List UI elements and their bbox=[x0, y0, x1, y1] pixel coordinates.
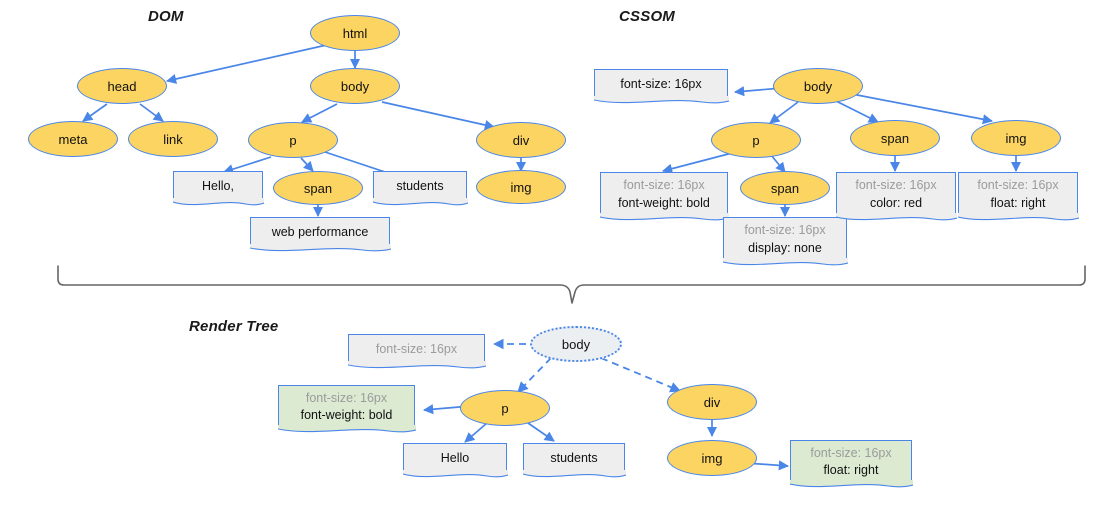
cssom-node-span-nested-label: span bbox=[771, 181, 799, 196]
dom-node-img-label: img bbox=[511, 180, 532, 195]
render-rule-img[interactable]: font-size: 16px float: right bbox=[790, 440, 912, 483]
cssom-rule-span-line1: font-size: 16px bbox=[855, 177, 936, 194]
dom-section-title: DOM bbox=[148, 8, 184, 25]
dom-node-meta-label: meta bbox=[59, 132, 88, 147]
cssom-rule-span-nested[interactable]: font-size: 16px display: none bbox=[723, 217, 847, 261]
cssom-rule-span-nested-line1: font-size: 16px bbox=[744, 222, 825, 239]
cssom-rule-p[interactable]: font-size: 16px font-weight: bold bbox=[600, 172, 728, 216]
dom-text-hello[interactable]: Hello, bbox=[173, 171, 263, 201]
cssom-node-span-nested[interactable]: span bbox=[740, 171, 830, 205]
dom-text-web-performance-label: web performance bbox=[272, 224, 369, 241]
cssom-node-body-label: body bbox=[804, 79, 832, 94]
cssom-node-p-label: p bbox=[752, 133, 759, 148]
render-text-students[interactable]: students bbox=[523, 443, 625, 473]
cssom-rule-img-line2: float: right bbox=[991, 195, 1046, 212]
dom-node-div[interactable]: div bbox=[476, 122, 566, 158]
dom-node-body[interactable]: body bbox=[310, 68, 400, 104]
cssom-node-img-label: img bbox=[1006, 131, 1027, 146]
edge-layer bbox=[0, 0, 1109, 506]
render-node-body-label: body bbox=[562, 337, 590, 352]
cssom-node-img[interactable]: img bbox=[971, 120, 1061, 156]
cssom-rule-body-line1: font-size: 16px bbox=[620, 76, 701, 93]
dom-node-head[interactable]: head bbox=[77, 68, 167, 104]
cssom-rule-p-line2: font-weight: bold bbox=[618, 195, 710, 212]
render-tree-section-title: Render Tree bbox=[189, 318, 278, 335]
cssom-rule-span[interactable]: font-size: 16px color: red bbox=[836, 172, 956, 216]
render-rule-body-line1: font-size: 16px bbox=[376, 341, 457, 358]
dom-text-web-performance[interactable]: web performance bbox=[250, 217, 390, 247]
grouping-brace bbox=[0, 0, 1109, 506]
dom-node-span[interactable]: span bbox=[273, 171, 363, 205]
cssom-rule-span-line2: color: red bbox=[870, 195, 922, 212]
render-node-img-label: img bbox=[702, 451, 723, 466]
cssom-node-span[interactable]: span bbox=[850, 120, 940, 156]
render-rule-img-line2: float: right bbox=[824, 462, 879, 479]
cssom-section-title: CSSOM bbox=[619, 8, 675, 25]
cssom-rule-img-line1: font-size: 16px bbox=[977, 177, 1058, 194]
diagram-canvas: DOM CSSOM Render Tree html body head met… bbox=[0, 0, 1109, 506]
dom-text-students[interactable]: students bbox=[373, 171, 467, 201]
render-text-hello[interactable]: Hello bbox=[403, 443, 507, 473]
cssom-node-p[interactable]: p bbox=[711, 122, 801, 158]
render-node-img[interactable]: img bbox=[667, 440, 757, 476]
cssom-rule-p-line1: font-size: 16px bbox=[623, 177, 704, 194]
dom-node-div-label: div bbox=[513, 133, 530, 148]
render-node-body[interactable]: body bbox=[530, 326, 622, 362]
render-rule-body[interactable]: font-size: 16px bbox=[348, 334, 485, 364]
render-node-p[interactable]: p bbox=[460, 390, 550, 426]
cssom-rule-img[interactable]: font-size: 16px float: right bbox=[958, 172, 1078, 216]
dom-node-img[interactable]: img bbox=[476, 170, 566, 204]
render-rule-p-line2: font-weight: bold bbox=[301, 407, 393, 424]
render-text-hello-label: Hello bbox=[441, 450, 470, 467]
dom-node-html-label: html bbox=[343, 26, 368, 41]
dom-text-hello-label: Hello, bbox=[202, 178, 234, 195]
dom-node-body-label: body bbox=[341, 79, 369, 94]
cssom-rule-span-nested-line2: display: none bbox=[748, 240, 822, 257]
render-node-p-label: p bbox=[501, 401, 508, 416]
dom-node-p-label: p bbox=[289, 133, 296, 148]
dom-node-p[interactable]: p bbox=[248, 122, 338, 158]
cssom-rule-body[interactable]: font-size: 16px bbox=[594, 69, 728, 99]
render-rule-img-line1: font-size: 16px bbox=[810, 445, 891, 462]
dom-node-span-label: span bbox=[304, 181, 332, 196]
dom-node-html[interactable]: html bbox=[310, 15, 400, 51]
dom-node-head-label: head bbox=[108, 79, 137, 94]
render-rule-p-line1: font-size: 16px bbox=[306, 390, 387, 407]
render-text-students-label: students bbox=[550, 450, 597, 467]
render-node-div-label: div bbox=[704, 395, 721, 410]
cssom-node-span-label: span bbox=[881, 131, 909, 146]
render-node-div[interactable]: div bbox=[667, 384, 757, 420]
dom-node-meta[interactable]: meta bbox=[28, 121, 118, 157]
cssom-node-body[interactable]: body bbox=[773, 68, 863, 104]
dom-text-students-label: students bbox=[396, 178, 443, 195]
dom-node-link[interactable]: link bbox=[128, 121, 218, 157]
render-rule-p[interactable]: font-size: 16px font-weight: bold bbox=[278, 385, 415, 428]
dom-node-link-label: link bbox=[163, 132, 183, 147]
